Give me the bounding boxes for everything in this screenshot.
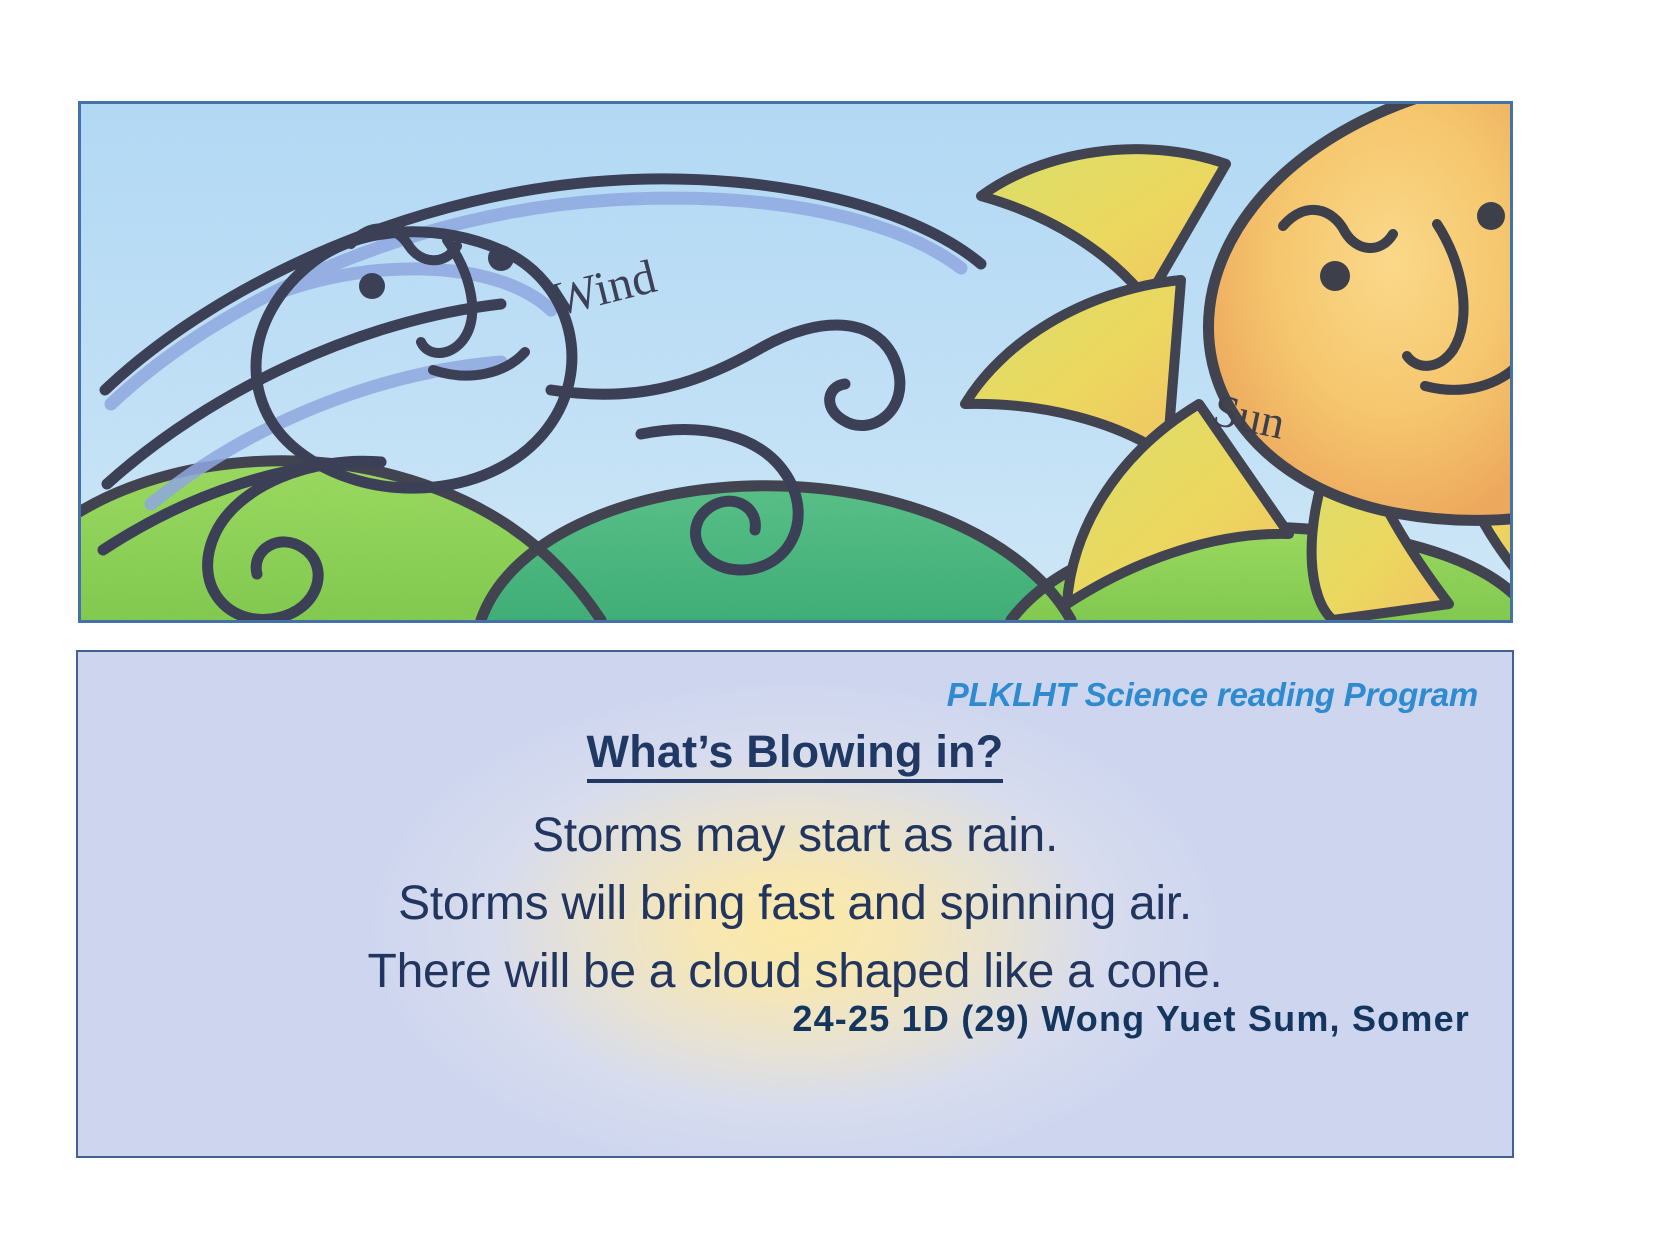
attribution: 24-25 1D (29) Wong Yuet Sum, Somer	[792, 998, 1470, 1040]
body-line-3: There will be a cloud shaped like a cone…	[78, 938, 1512, 1006]
illustration-drawing: Sun	[81, 104, 1510, 620]
illustration-panel: Sun	[78, 101, 1513, 623]
text-panel: PLKLHT Science reading Program What’s Bl…	[76, 650, 1514, 1158]
body-line-2: Storms will bring fast and spinning air.	[78, 870, 1512, 938]
headline: What’s Blowing in?	[78, 726, 1512, 778]
slide-canvas: Sun	[0, 0, 1680, 1260]
body-line-1: Storms may start as rain.	[78, 802, 1512, 870]
program-label: PLKLHT Science reading Program	[947, 676, 1478, 714]
headline-text: What’s Blowing in?	[587, 726, 1004, 783]
paper-texture-overlay	[81, 104, 1510, 620]
body-lines: Storms may start as rain. Storms will br…	[78, 802, 1512, 1006]
